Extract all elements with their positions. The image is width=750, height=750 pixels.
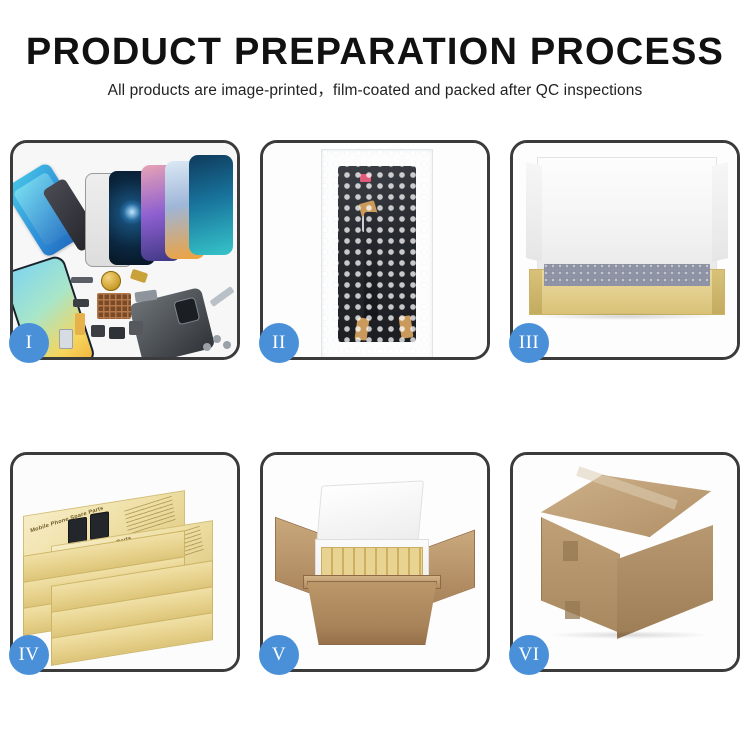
lcd-screen [338, 166, 416, 342]
bubble-wrap-filling [544, 264, 710, 286]
process-card-6[interactable]: VI [510, 452, 740, 672]
process-card-5[interactable]: V [260, 452, 490, 672]
open-kraft-box-image [513, 143, 737, 357]
phone-parts-display-image [13, 143, 237, 357]
tray-flap-left [530, 270, 542, 314]
screw [203, 343, 211, 351]
foam-box-lid [316, 480, 424, 545]
step-badge-2: II [259, 323, 299, 363]
adhesive-strip-left [355, 317, 370, 340]
small-part [209, 286, 234, 307]
adhesive-strip-right [399, 315, 414, 338]
small-part [91, 325, 105, 337]
carton-tape-upper [563, 541, 578, 561]
step-badge-6: VI [509, 635, 549, 675]
screw [213, 335, 221, 343]
step-badge-1: I [9, 323, 49, 363]
step-badge-5: V [259, 635, 299, 675]
bubble-wrap-bag [321, 149, 433, 357]
phone-screen-teal [189, 155, 233, 255]
small-part [109, 327, 125, 339]
tray-flap-right [712, 270, 724, 314]
process-card-3[interactable]: III [510, 140, 740, 360]
carton-left-face [541, 517, 620, 633]
box-lid-white [537, 157, 717, 275]
process-row-bottom: Mobile Phone Spare Parts Mobile Phone Sp… [0, 452, 750, 672]
chip-grid-component [97, 293, 131, 319]
kraft-box-tray [529, 269, 725, 315]
process-grid: I [0, 140, 750, 672]
vibration-motor [101, 271, 121, 291]
process-row-top: I [0, 140, 750, 360]
screw [223, 341, 231, 349]
small-part [71, 277, 93, 283]
process-card-4[interactable]: Mobile Phone Spare Parts Mobile Phone Sp… [10, 452, 240, 672]
box-stack: Mobile Phone Spare Parts Mobile Phone Sp… [19, 469, 237, 665]
sealed-shipping-carton-image [513, 455, 737, 669]
bubble-wrapped-screen-image [263, 143, 487, 357]
page-header: PRODUCT PREPARATION PROCESS All products… [0, 0, 750, 102]
product-preparation-process-page: PRODUCT PREPARATION PROCESS All products… [0, 0, 750, 750]
stacked-spare-part-boxes-image: Mobile Phone Spare Parts Mobile Phone Sp… [13, 455, 237, 669]
carton-with-foam-insert-image [263, 455, 487, 669]
small-part [73, 299, 89, 307]
step-badge-3: III [509, 323, 549, 363]
small-part [129, 321, 143, 335]
page-subtitle: All products are image-printed，film-coat… [0, 80, 750, 102]
flex-cable [364, 212, 378, 320]
process-card-1[interactable]: I [10, 140, 240, 360]
small-part [75, 313, 85, 335]
pink-qc-label [360, 174, 371, 182]
carton-tape-lower [565, 601, 580, 619]
page-title: PRODUCT PREPARATION PROCESS [0, 30, 750, 74]
small-part [59, 329, 73, 349]
carton-body [307, 581, 437, 645]
box-shadow [535, 313, 717, 320]
step-badge-4: IV [9, 635, 49, 675]
small-part [130, 269, 148, 283]
carton-shadow [549, 631, 709, 639]
carton-right-face [617, 525, 713, 639]
process-card-2[interactable]: II [260, 140, 490, 360]
screen-photo [90, 511, 109, 540]
